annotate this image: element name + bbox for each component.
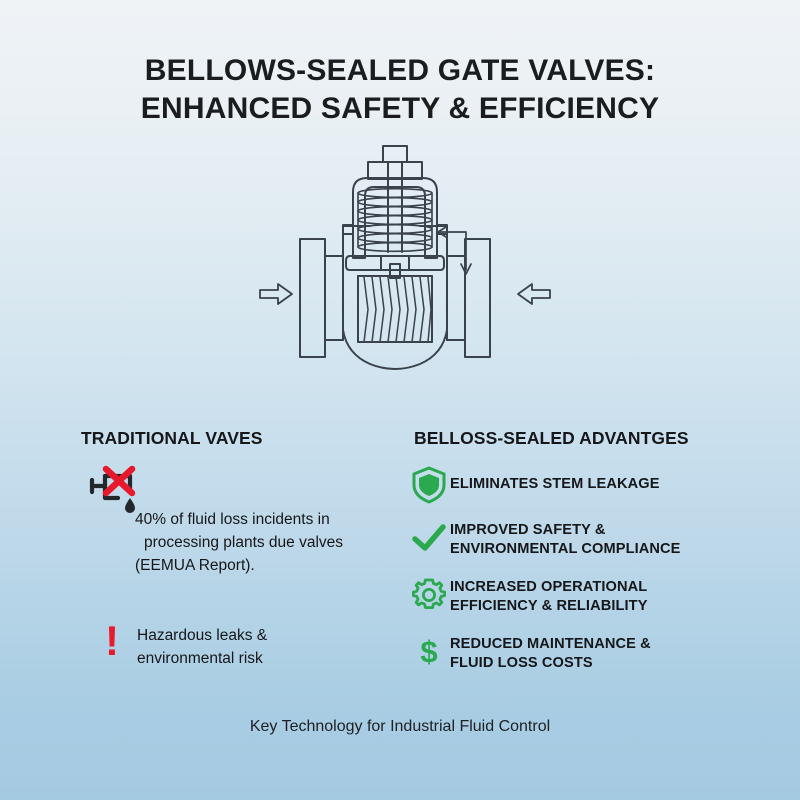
left-pipe-neck <box>325 256 343 340</box>
advantage-item: $ REDUCED MAINTENANCE & FLUID LOSS COSTS <box>408 632 708 673</box>
valve-diagram <box>240 140 570 385</box>
footer-tagline: Key Technology for Industrial Fluid Cont… <box>0 718 800 736</box>
water-drop <box>125 498 135 513</box>
check-icon <box>408 518 450 558</box>
dollar-icon: $ <box>408 632 450 672</box>
traditional-column-heading: TRADITIONAL VAVES <box>81 428 263 449</box>
advantage-label: ELIMINATES STEM LEAKAGE <box>450 465 660 494</box>
outlet-flow-arrow-left <box>518 284 550 304</box>
advantage-label-line-1: IMPROVED SAFETY & <box>450 521 681 540</box>
advantage-item: ELIMINATES STEM LEAKAGE <box>408 465 708 505</box>
right-flange <box>465 239 490 357</box>
advantage-label: IMPROVED SAFETY & ENVIRONMENTAL COMPLIAN… <box>450 518 681 559</box>
stat-line-2: processing plants due valves <box>135 531 400 554</box>
hazard-note: Hazardous leaks & environmental risk <box>137 624 377 670</box>
shield-icon <box>408 465 450 505</box>
advantage-item: IMPROVED SAFETY & ENVIRONMENTAL COMPLIAN… <box>408 518 708 559</box>
left-flange <box>300 239 325 357</box>
advantage-label: INCREASED OPERATIONAL EFFICIENCY & RELIA… <box>450 575 648 616</box>
advantage-label: REDUCED MAINTENANCE & FLUID LOSS COSTS <box>450 632 651 673</box>
fluid-loss-statistic: 40% of fluid loss incidents in processin… <box>135 508 400 577</box>
advantage-label-line-1: INCREASED OPERATIONAL <box>450 578 648 597</box>
advantage-label-line-2: EFFICIENCY & RELIABILITY <box>450 597 648 616</box>
hazard-line-1: Hazardous leaks & <box>137 624 377 647</box>
title-line-1: BELLOWS-SEALED GATE VALVES: <box>0 52 800 90</box>
bonnet-cap <box>368 162 422 179</box>
advantage-label-line-1: REDUCED MAINTENANCE & <box>450 635 651 654</box>
advantage-item: INCREASED OPERATIONAL EFFICIENCY & RELIA… <box>408 575 708 616</box>
dollar-glyph: $ <box>420 635 437 669</box>
stat-line-3: (EEMUA Report). <box>135 554 400 577</box>
inlet-flow-arrow-right <box>260 284 292 304</box>
advantages-column-heading: BELLOSS-SEALED ADVANTGES <box>414 428 689 449</box>
title-line-2: ENHANCED SAFETY & EFFICIENCY <box>0 90 800 128</box>
infographic-poster: BELLOWS-SEALED GATE VALVES: ENHANCED SAF… <box>0 0 800 800</box>
exclamation-icon: ! <box>99 620 125 664</box>
gear-icon <box>408 575 450 615</box>
bonnet-spring-coils <box>358 189 432 252</box>
advantage-label-line-1: ELIMINATES STEM LEAKAGE <box>450 475 660 494</box>
page-title: BELLOWS-SEALED GATE VALVES: ENHANCED SAF… <box>0 52 800 128</box>
stat-line-1: 40% of fluid loss incidents in <box>135 508 400 531</box>
advantage-label-line-2: FLUID LOSS COSTS <box>450 654 651 673</box>
advantage-label-line-2: ENVIRONMENTAL COMPLIANCE <box>450 540 681 559</box>
hazard-line-2: environmental risk <box>137 647 377 670</box>
bellows-pleats <box>364 277 431 342</box>
stem-top-nut <box>383 146 407 162</box>
right-pipe-neck <box>447 256 465 340</box>
